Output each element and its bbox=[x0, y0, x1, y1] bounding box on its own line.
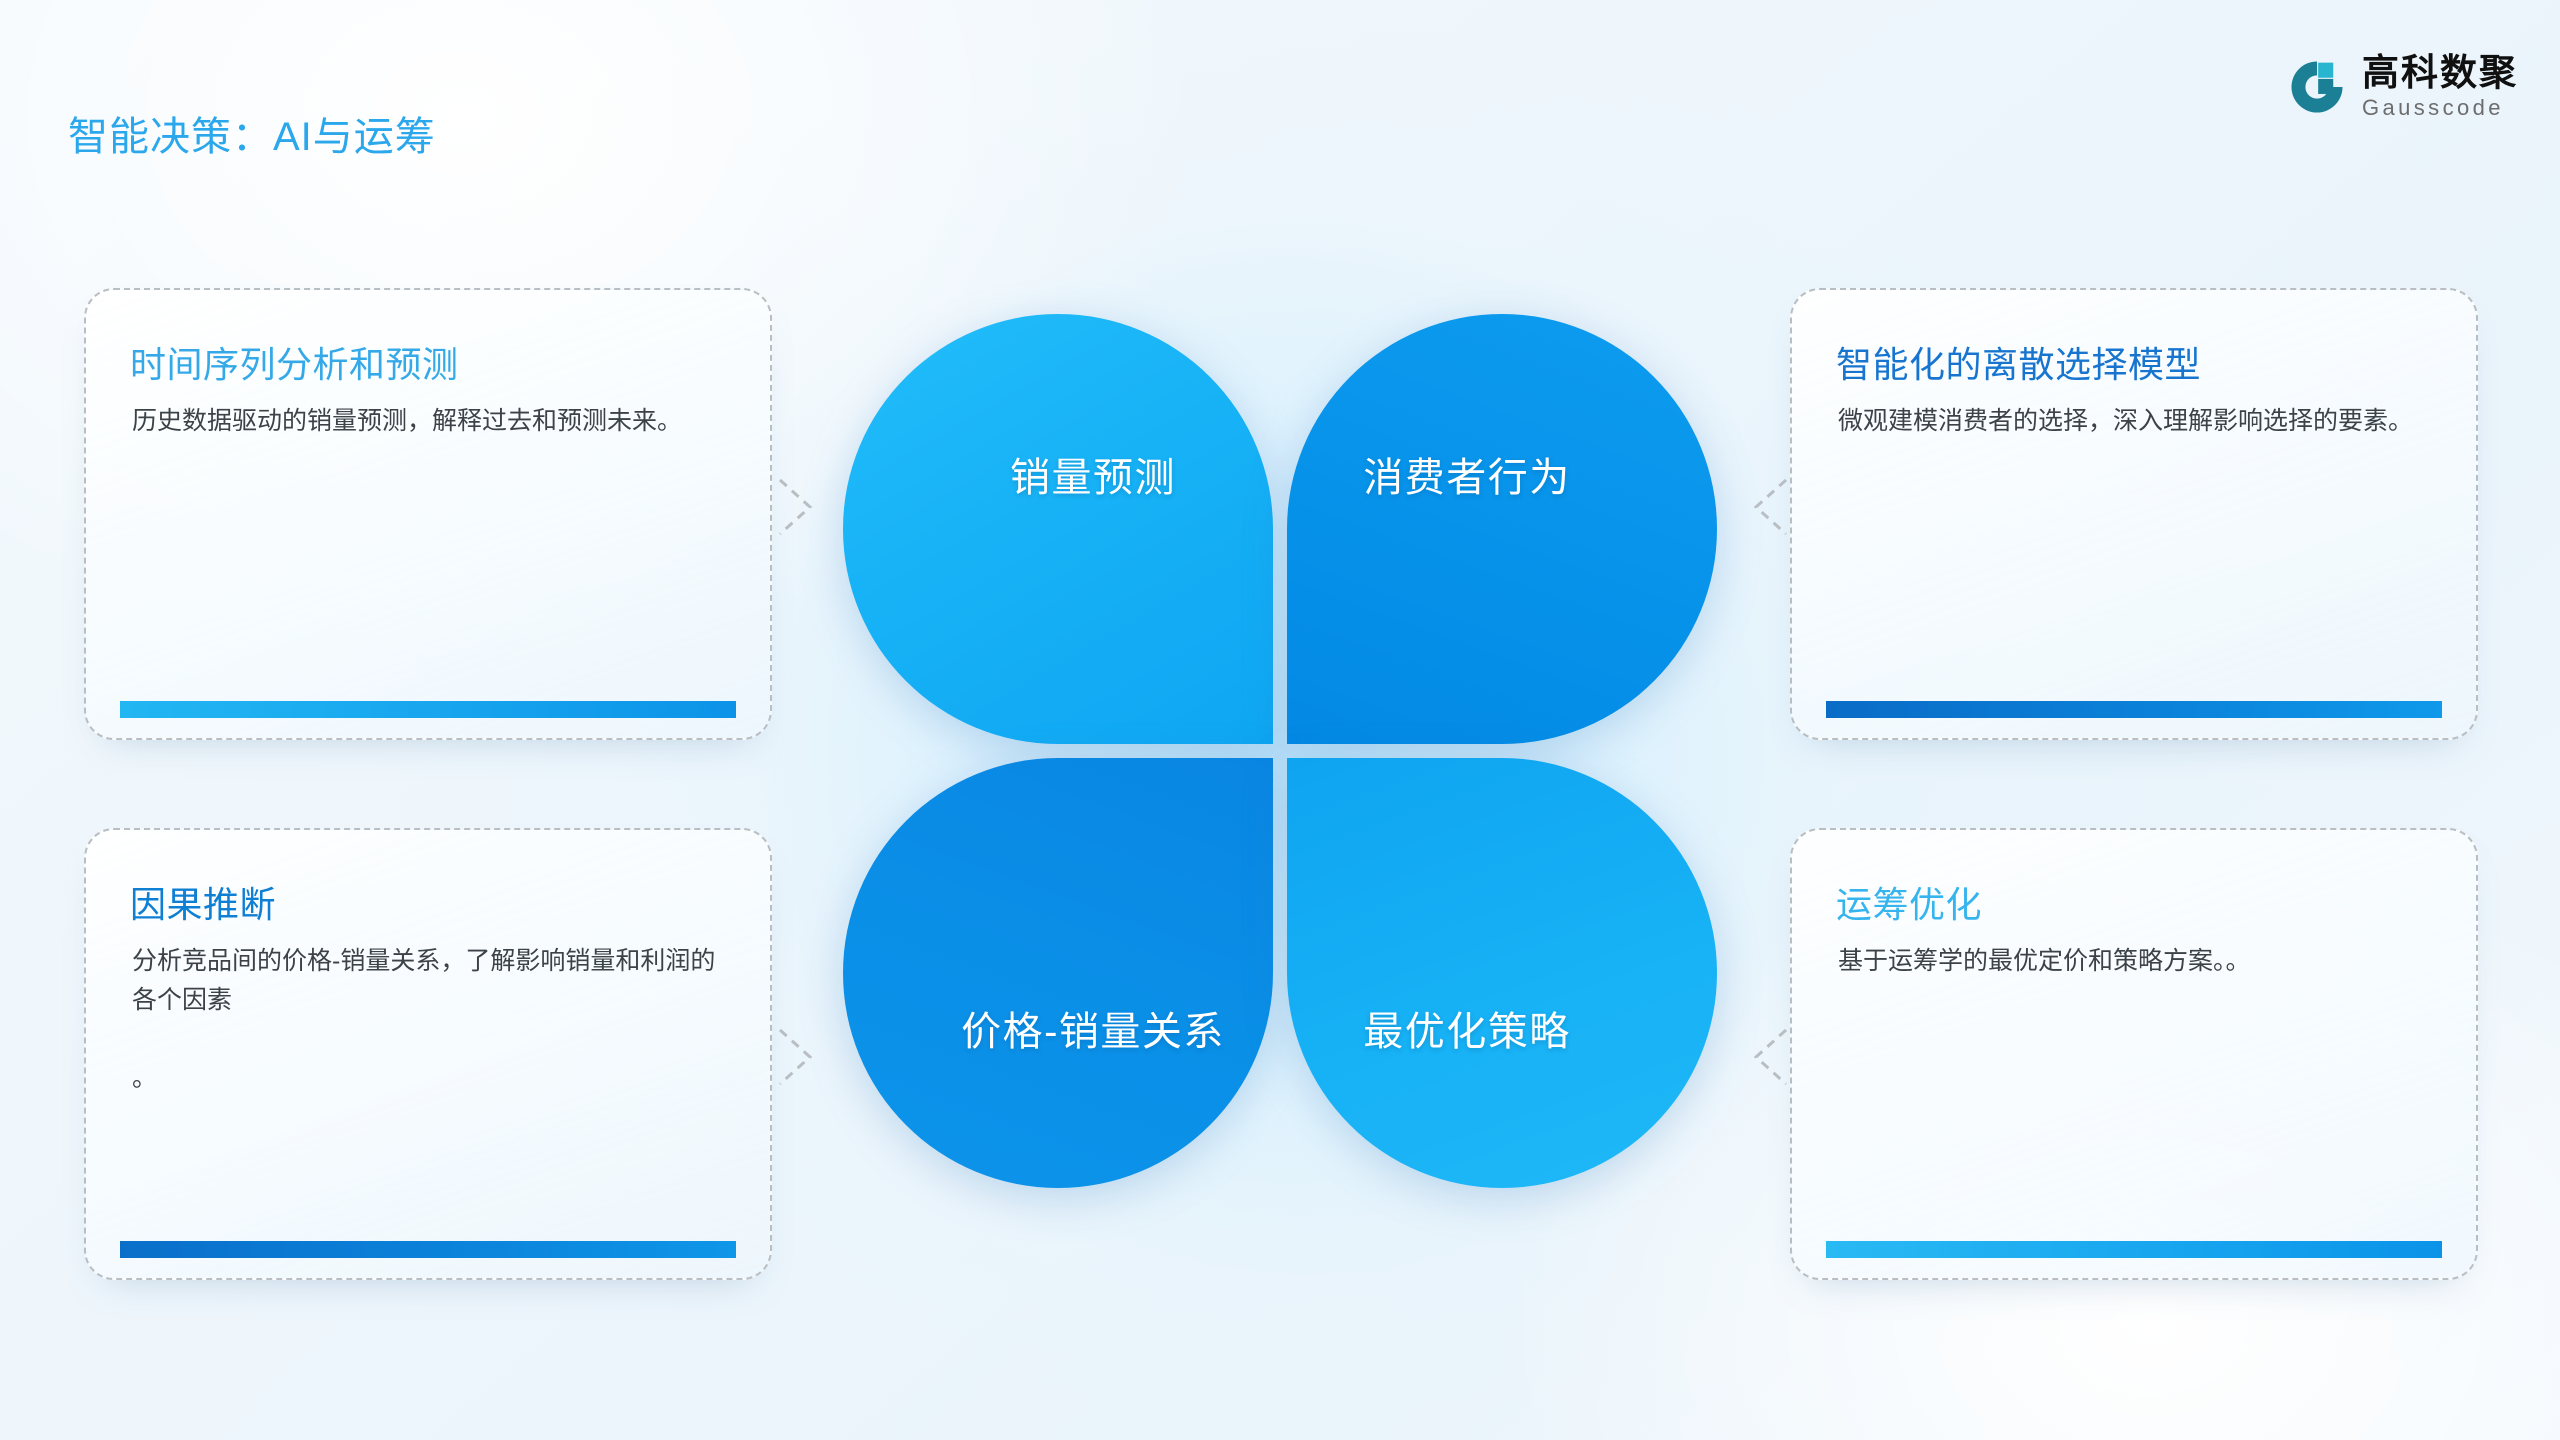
card-accent-bar bbox=[120, 1241, 736, 1258]
card-body: 分析竞品间的价格-销量关系，了解影响销量和利润的各个因素 。 bbox=[132, 942, 722, 1098]
card-discrete-choice[interactable]: 智能化的离散选择模型 微观建模消费者的选择，深入理解影响选择的要素。 bbox=[1790, 288, 2478, 740]
card-accent-bar bbox=[1826, 701, 2442, 718]
logo-name-cn: 高科数聚 bbox=[2362, 54, 2518, 91]
chevron-right-icon bbox=[776, 476, 816, 538]
petal-consumer-behavior[interactable]: 消费者行为 bbox=[1287, 314, 1717, 744]
petal-inner: 价格-销量关系 bbox=[843, 758, 1273, 1188]
petal-label: 销量预测 bbox=[1010, 445, 1176, 503]
brand-logo: 高科数聚 Gausscode bbox=[2288, 54, 2518, 119]
petal-label: 消费者行为 bbox=[1363, 445, 1571, 503]
chevron-left-icon bbox=[1750, 1026, 1790, 1088]
card-time-series[interactable]: 时间序列分析和预测 历史数据驱动的销量预测，解释过去和预测未来。 bbox=[84, 288, 772, 740]
logo-wordmark: 高科数聚 Gausscode bbox=[2362, 54, 2518, 119]
card-title: 运筹优化 bbox=[1836, 876, 1982, 928]
petal-inner: 销量预测 bbox=[843, 314, 1273, 744]
page-title: 智能决策：AI与运筹 bbox=[68, 104, 436, 162]
petal-label: 价格-销量关系 bbox=[961, 999, 1225, 1057]
card-accent-bar bbox=[120, 701, 736, 718]
petal-inner: 最优化策略 bbox=[1287, 758, 1717, 1188]
logo-name-en: Gausscode bbox=[2362, 97, 2518, 119]
chevron-left-icon bbox=[1750, 476, 1790, 538]
petal-optimal-strategy[interactable]: 最优化策略 bbox=[1287, 758, 1717, 1188]
card-body: 微观建模消费者的选择，深入理解影响选择的要素。 bbox=[1838, 402, 2428, 441]
card-title: 因果推断 bbox=[130, 876, 276, 928]
card-body: 基于运筹学的最优定价和策略方案。。 bbox=[1838, 942, 2428, 981]
card-body: 历史数据驱动的销量预测，解释过去和预测未来。 bbox=[132, 402, 722, 441]
petal-inner: 消费者行为 bbox=[1287, 314, 1717, 744]
card-title: 智能化的离散选择模型 bbox=[1836, 336, 2201, 388]
card-title: 时间序列分析和预测 bbox=[130, 336, 459, 388]
chevron-right-icon bbox=[776, 1026, 816, 1088]
gausscode-logo-icon bbox=[2288, 58, 2346, 116]
flower-diagram: 销量预测 消费者行为 价格-销量关系 最优化策略 bbox=[843, 314, 1717, 1188]
card-causal-inference[interactable]: 因果推断 分析竞品间的价格-销量关系，了解影响销量和利润的各个因素 。 bbox=[84, 828, 772, 1280]
petal-price-volume[interactable]: 价格-销量关系 bbox=[843, 758, 1273, 1188]
card-accent-bar bbox=[1826, 1241, 2442, 1258]
card-operations-research[interactable]: 运筹优化 基于运筹学的最优定价和策略方案。。 bbox=[1790, 828, 2478, 1280]
petal-sales-forecast[interactable]: 销量预测 bbox=[843, 314, 1273, 744]
petal-label: 最优化策略 bbox=[1363, 999, 1571, 1057]
